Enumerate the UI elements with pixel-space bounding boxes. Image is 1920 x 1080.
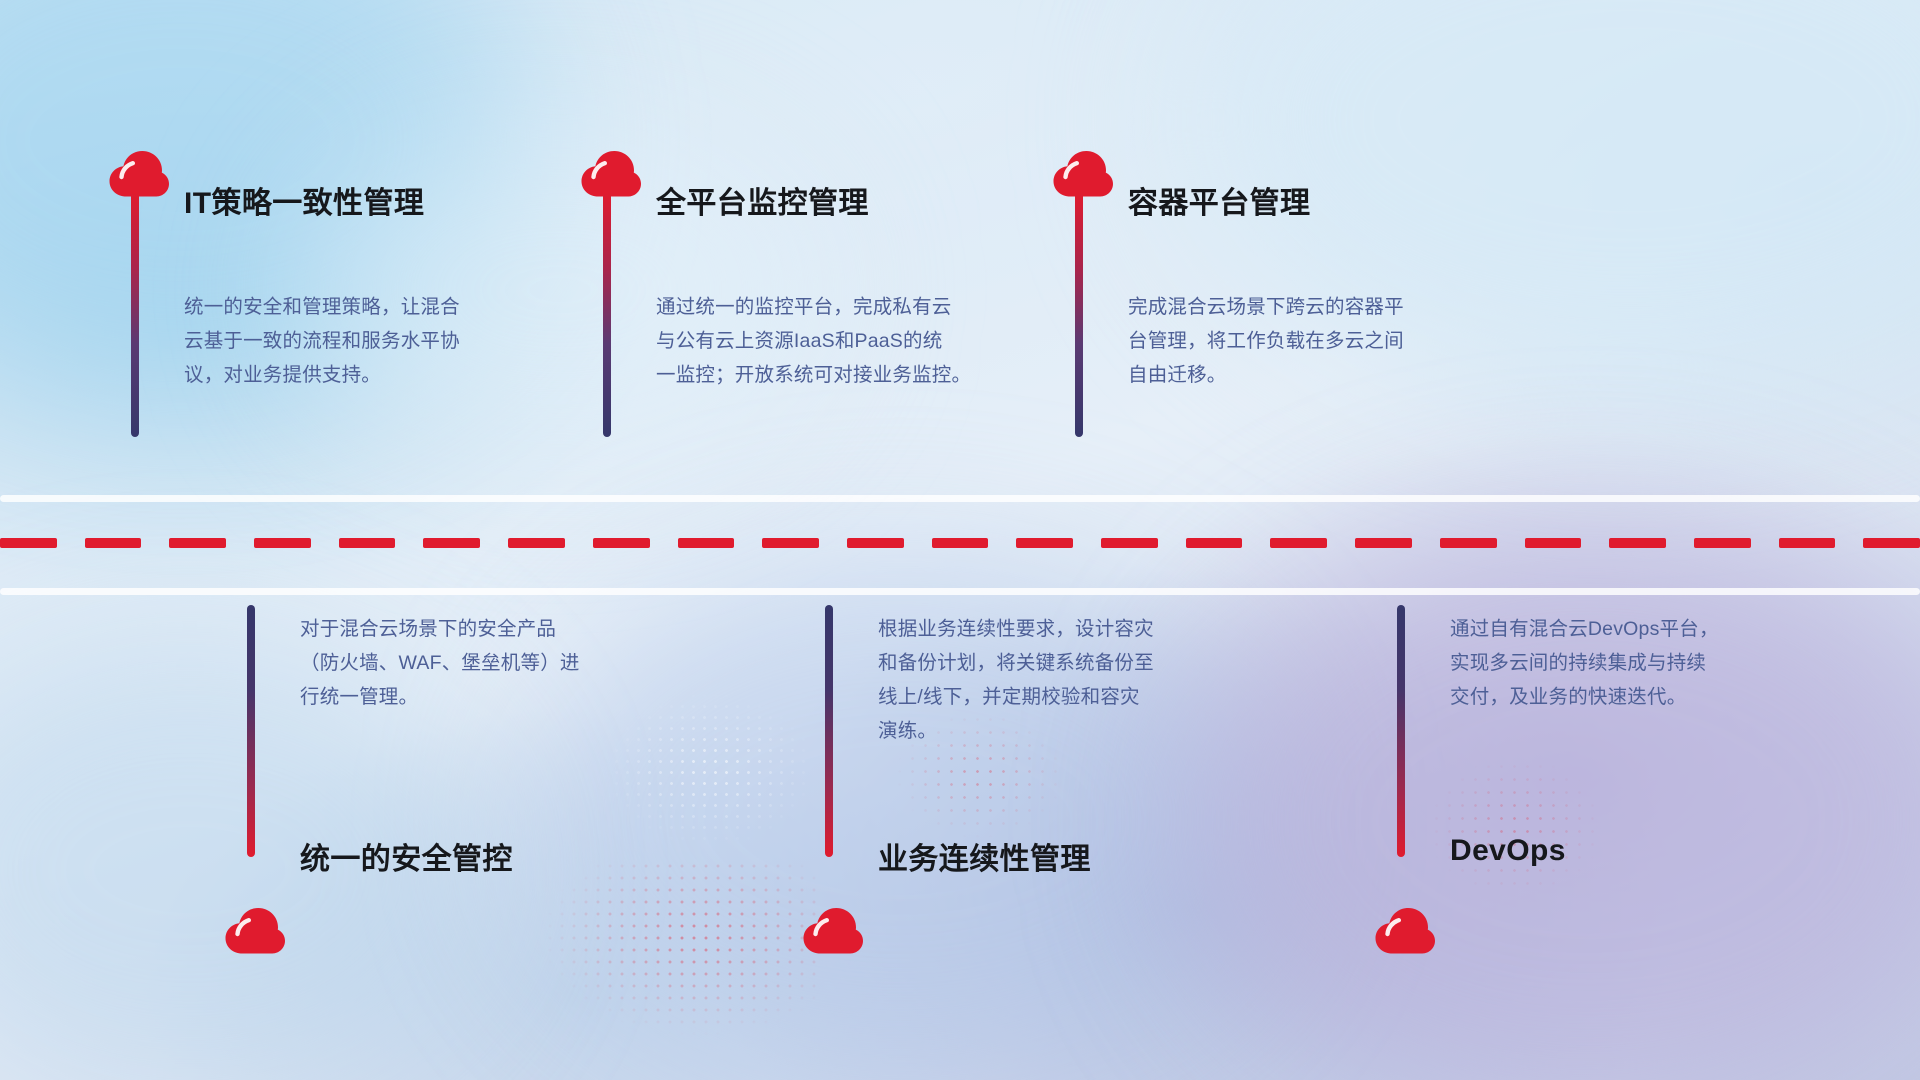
center-divider [0, 495, 1920, 595]
dash-segment [254, 538, 311, 548]
dash-segment [762, 538, 819, 548]
cloud-icon-glyph [802, 907, 864, 955]
cloud-icon [224, 907, 286, 955]
cloud-icon-glyph [1374, 907, 1436, 955]
timeline-item-description: 通过统一的监控平台，完成私有云 与公有云上资源IaaS和PaaS的统 一监控；开… [656, 290, 986, 392]
timeline-item-heading: IT策略一致性管理 [184, 178, 424, 222]
cloud-icon-glyph [108, 150, 170, 198]
dash-segment [932, 538, 989, 548]
timeline-item-heading: 全平台监控管理 [656, 178, 869, 222]
dash-segment [1016, 538, 1073, 548]
dash-segment [678, 538, 735, 548]
cloud-icon-glyph [580, 150, 642, 198]
timeline-stem [1075, 192, 1083, 437]
cloud-icon [802, 907, 864, 955]
dash-segment [593, 538, 650, 548]
dash-segment [1355, 538, 1412, 548]
dash-segment [508, 538, 565, 548]
timeline-item-description: 完成混合云场景下跨云的容器平 台管理，将工作负载在多云之间 自由迁移。 [1128, 290, 1458, 392]
timeline-stem [825, 605, 833, 857]
red-dashed-line [0, 538, 1920, 548]
timeline-stem [247, 605, 255, 857]
timeline-item-description: 统一的安全和管理策略，让混合 云基于一致的流程和服务水平协 议，对业务提供支持。 [184, 290, 514, 392]
cloud-icon-glyph [1052, 150, 1114, 198]
dash-segment [1270, 538, 1327, 548]
timeline-item-heading: DevOps [1450, 834, 1566, 868]
dash-segment [1440, 538, 1497, 548]
dash-segment [1779, 538, 1836, 548]
timeline-item-description: 通过自有混合云DevOps平台， 实现多云间的持续集成与持续 交付，及业务的快速… [1450, 612, 1780, 714]
dash-segment [1609, 538, 1666, 548]
timeline-stem [131, 192, 139, 437]
decorative-dot-field [600, 690, 820, 850]
dash-segment [423, 538, 480, 548]
dash-segment [339, 538, 396, 548]
timeline-item-heading: 业务连续性管理 [878, 834, 1091, 878]
dash-segment [169, 538, 226, 548]
dash-segment [847, 538, 904, 548]
timeline-item-heading: 容器平台管理 [1128, 178, 1310, 222]
cloud-icon [1052, 150, 1114, 198]
cloud-icon [580, 150, 642, 198]
infographic-canvas: IT策略一致性管理统一的安全和管理策略，让混合 云基于一致的流程和服务水平协 议… [0, 0, 1920, 1080]
dash-segment [1101, 538, 1158, 548]
timeline-item-description: 对于混合云场景下的安全产品 （防火墙、WAF、堡垒机等）进 行统一管理。 [300, 612, 630, 714]
decorative-dot-field [520, 860, 820, 1050]
timeline-stem [603, 192, 611, 437]
dash-segment [1863, 538, 1920, 548]
background-blob [1180, 520, 1920, 1080]
timeline-item-heading: 统一的安全管控 [300, 834, 513, 878]
white-rule-bottom [0, 588, 1920, 595]
white-rule-top [0, 495, 1920, 502]
cloud-icon [1374, 907, 1436, 955]
timeline-stem [1397, 605, 1405, 857]
dash-segment [85, 538, 142, 548]
dash-segment [1525, 538, 1582, 548]
dash-segment [0, 538, 57, 548]
dash-segment [1186, 538, 1243, 548]
timeline-item-description: 根据业务连续性要求，设计容灾 和备份计划，将关键系统备份至 线上/线下，并定期校… [878, 612, 1208, 748]
dash-segment [1694, 538, 1751, 548]
cloud-icon-glyph [224, 907, 286, 955]
cloud-icon [108, 150, 170, 198]
